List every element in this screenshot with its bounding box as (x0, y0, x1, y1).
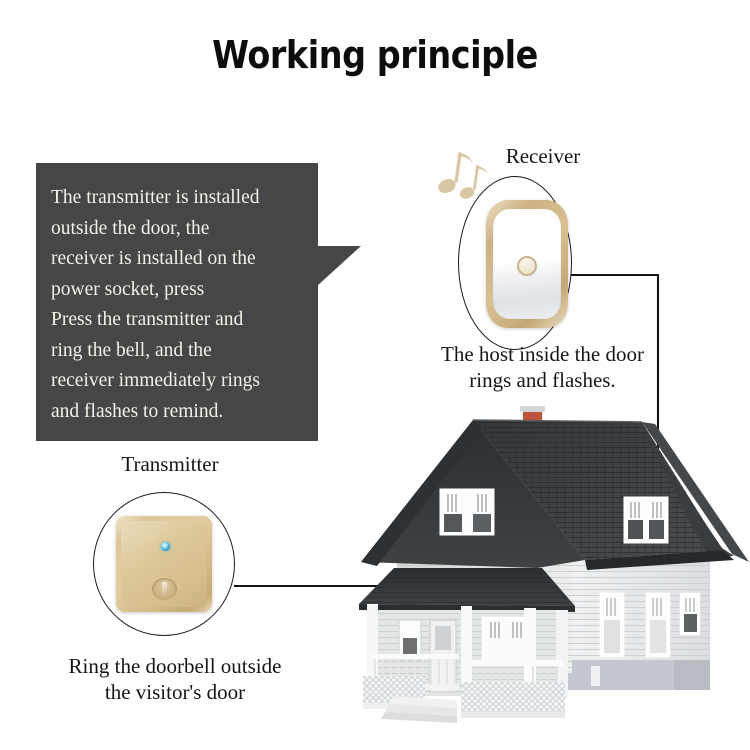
transmitter-device[interactable] (116, 516, 212, 612)
speech-bubble-tail (317, 246, 361, 286)
page-title: Working principle (45, 33, 705, 77)
receiver-face-panel (493, 209, 561, 319)
transmitter-label: Transmitter (80, 452, 260, 477)
transmitter-caption: Ring the doorbell outside the visitor's … (30, 653, 320, 705)
explanation-text: The transmitter is installed outside the… (51, 183, 313, 427)
working-principle-infographic: Working principle The transmitter is ins… (0, 0, 750, 750)
explanation-speech-bubble: The transmitter is installed outside the… (36, 163, 318, 441)
receiver-button[interactable] (517, 256, 537, 276)
led-indicator-icon (161, 542, 170, 551)
music-notes-icon (434, 140, 496, 202)
doorbell-button-icon[interactable] (152, 578, 177, 600)
receiver-device[interactable] (486, 200, 568, 328)
receiver-caption: The host inside the door rings and flash… (405, 341, 680, 393)
house-model-photo (337, 398, 750, 750)
bell-glyph-icon (162, 582, 167, 595)
